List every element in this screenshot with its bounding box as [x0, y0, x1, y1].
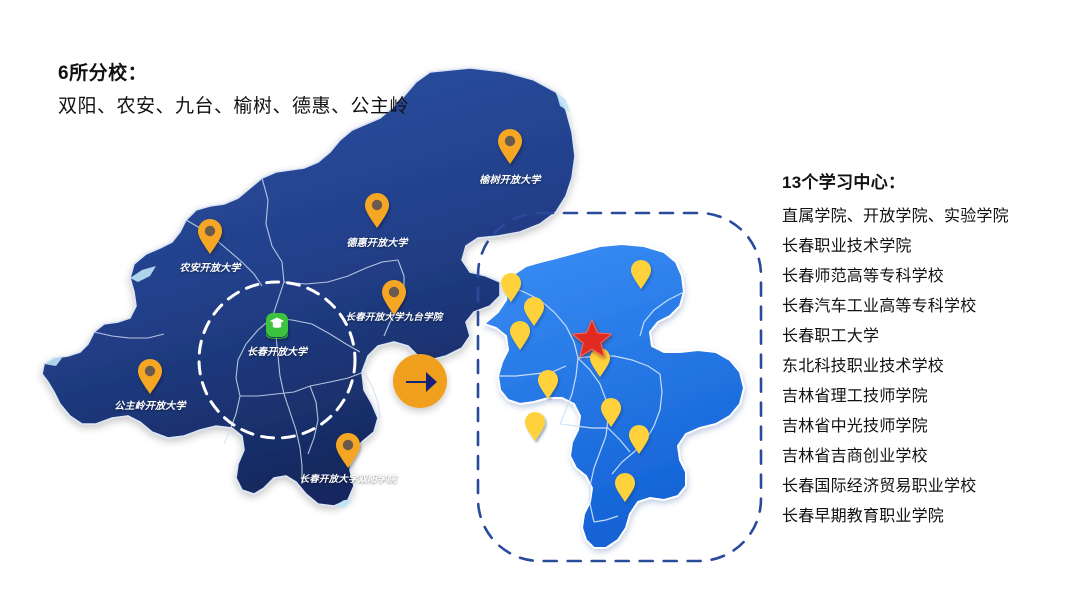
study-center-pin[interactable]	[525, 412, 545, 441]
list-item: 长春早期教育职业学院	[782, 502, 1072, 532]
infographic-root: 榆树开放大学 农安开放大学 德惠开放大学 长春开放大学九台学院 公主岭开放大学 …	[0, 0, 1077, 597]
study-centers-title: 13个学习中心：	[782, 172, 1072, 195]
list-item: 吉林省理工技师学院	[782, 382, 1072, 412]
study-centers-panel: 13个学习中心： 直属学院、开放学院、实验学院 长春职业技术学院 长春师范高等专…	[782, 172, 1072, 532]
branch-campuses-title: 6所分校：	[58, 62, 478, 87]
list-item: 吉林省中光技师学院	[782, 412, 1072, 442]
list-item: 长春职工大学	[782, 322, 1072, 352]
branch-campuses-list: 双阳、农安、九台、榆树、德惠、公主岭	[58, 95, 478, 120]
list-item: 长春国际经济贸易职业学校	[782, 472, 1072, 502]
list-item: 直属学院、开放学院、实验学院	[782, 202, 1072, 232]
list-item: 长春师范高等专科学校	[782, 262, 1072, 292]
branch-campuses-panel: 6所分校： 双阳、农安、九台、榆树、德惠、公主岭	[58, 62, 478, 119]
list-item: 长春汽车工业高等专科学校	[782, 292, 1072, 322]
study-centers-list: 直属学院、开放学院、实验学院 长春职业技术学院 长春师范高等专科学校 长春汽车工…	[782, 202, 1072, 532]
list-item: 东北科技职业技术学校	[782, 352, 1072, 382]
list-item: 吉林省吉商创业学校	[782, 442, 1072, 472]
light-map-landmass	[484, 244, 744, 548]
list-item: 长春职业技术学院	[782, 232, 1072, 262]
